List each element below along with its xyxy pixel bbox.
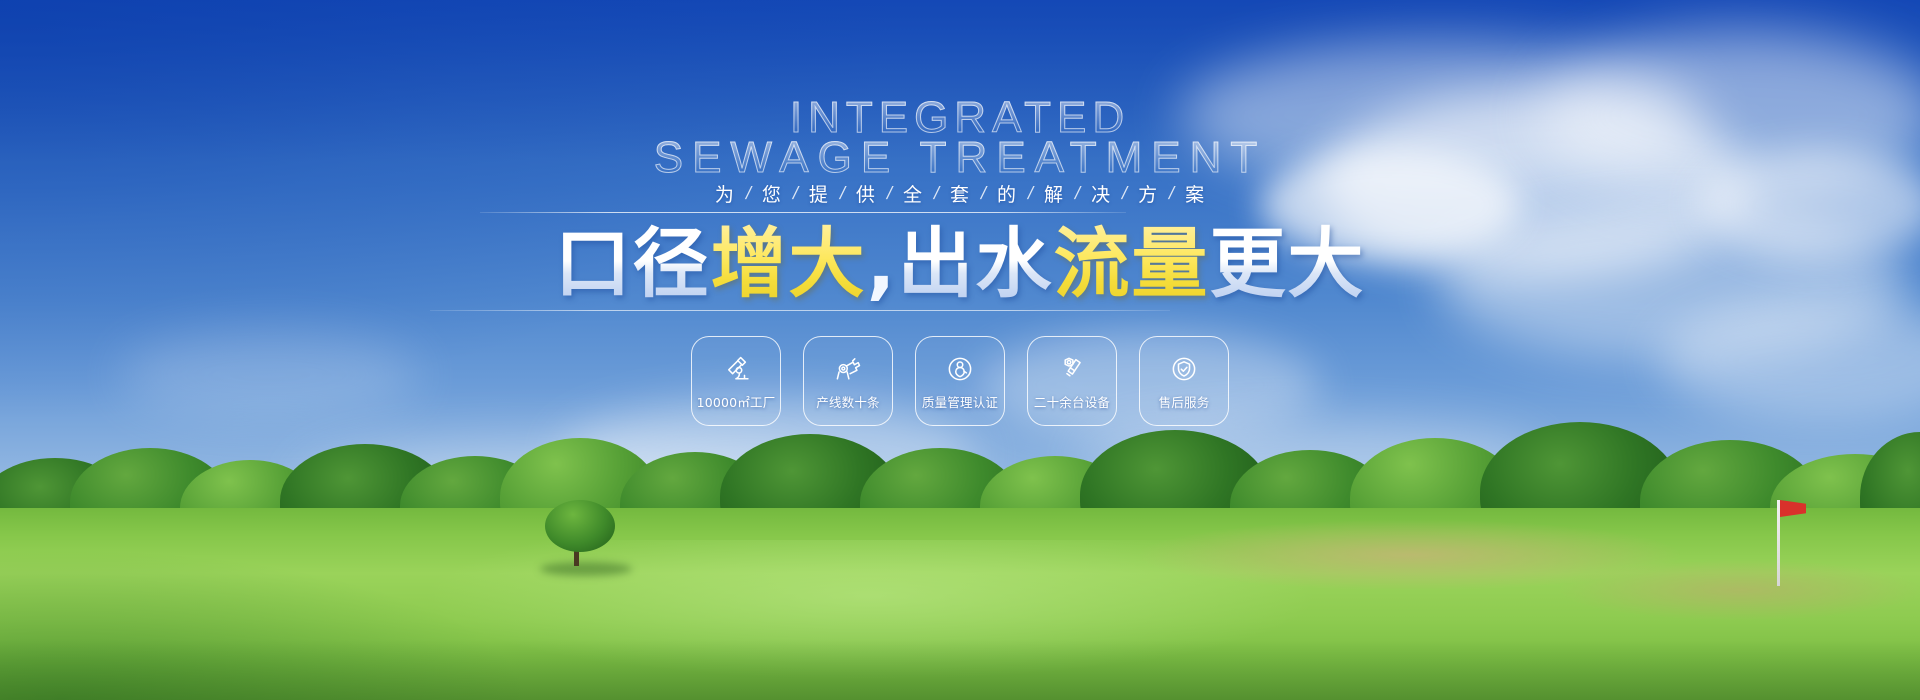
slogan-char: 案 <box>1174 180 1216 207</box>
slogan-char: 决 <box>1080 180 1122 207</box>
headline-segment: , <box>867 224 898 304</box>
slogan-char: 全 <box>892 180 934 207</box>
machine-equipment-icon <box>1055 352 1089 386</box>
slogan-char: 方 <box>1127 180 1169 207</box>
feature-badge[interactable]: 质量管理认证 <box>915 336 1005 426</box>
feature-badge[interactable]: 10000㎡工厂 <box>691 336 781 426</box>
page-title: 口径增大,出水流量更大 <box>0 224 1920 304</box>
feature-badge-label: 产线数十条 <box>816 392 880 411</box>
microscope-icon <box>719 352 753 386</box>
headline-segment: 出水 <box>897 224 1053 304</box>
hero-banner: INTEGRATED SEWAGE TREATMENT 为/您/提/供/全/套/… <box>0 0 1920 700</box>
feature-badges: 10000㎡工厂 产线数十条 质量管理认证 二十余台设备 售后服务 <box>0 336 1920 426</box>
slogan-char: 的 <box>986 180 1028 207</box>
slogan-char: 解 <box>1033 180 1075 207</box>
headline-segment: 流量 <box>1053 224 1209 304</box>
slogan-char: 提 <box>798 180 840 207</box>
quality-certificate-icon <box>943 352 977 386</box>
feature-badge-label: 10000㎡工厂 <box>697 392 776 411</box>
slogan-char: 您 <box>751 180 793 207</box>
headline-underline <box>430 310 1170 311</box>
english-headings: INTEGRATED SEWAGE TREATMENT <box>0 96 1920 180</box>
slogan-char: 为 <box>704 180 746 207</box>
slogan-divider <box>480 212 1126 213</box>
after-sales-shield-icon <box>1167 352 1201 386</box>
feature-badge[interactable]: 产线数十条 <box>803 336 893 426</box>
slogan-char: 供 <box>845 180 887 207</box>
headline-segment: 口径 <box>555 224 711 304</box>
english-heading-line1: INTEGRATED <box>0 96 1920 140</box>
slogan-char: 套 <box>939 180 981 207</box>
feature-badge[interactable]: 二十余台设备 <box>1027 336 1117 426</box>
headline-segment: 更大 <box>1209 224 1365 304</box>
feature-badge-label: 质量管理认证 <box>922 392 998 411</box>
slogan-row: 为/您/提/供/全/套/的/解/决/方/案 <box>0 180 1920 207</box>
english-heading-line2: SEWAGE TREATMENT <box>0 136 1920 180</box>
feature-badge[interactable]: 售后服务 <box>1139 336 1229 426</box>
feature-badge-label: 二十余台设备 <box>1034 392 1110 411</box>
production-line-icon <box>831 352 865 386</box>
feature-badge-label: 售后服务 <box>1159 392 1210 411</box>
headline-segment: 增大 <box>711 224 867 304</box>
